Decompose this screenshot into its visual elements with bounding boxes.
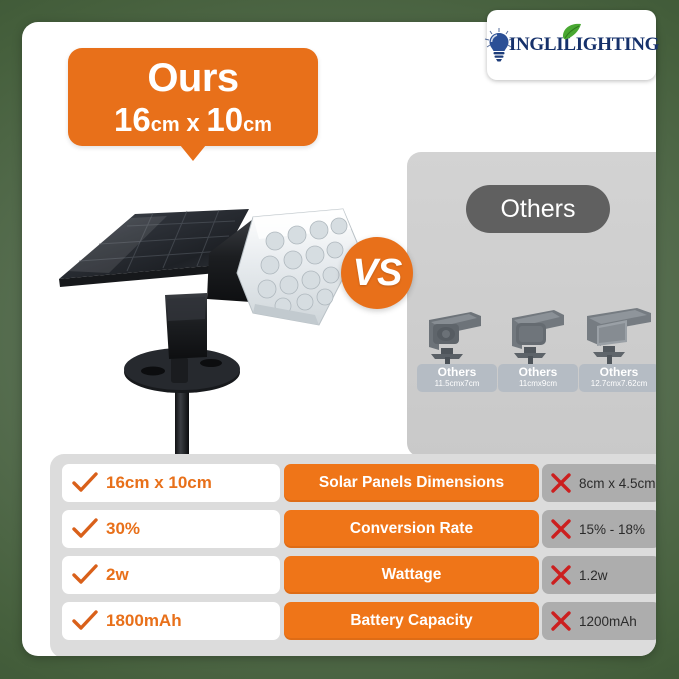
vs-badge: VS: [341, 237, 413, 309]
ours-dimensions: 16cm x 10cm: [114, 103, 272, 136]
others-value: 1.2w: [579, 568, 608, 583]
brand-logo: INGLILIGHTING: [487, 10, 656, 80]
ours-banner: Ours 16cm x 10cm: [68, 48, 318, 146]
feature-label: Battery Capacity: [284, 602, 539, 640]
others-products-row: Others 11.5cmx7cm Othe: [407, 302, 656, 402]
cross-icon: [550, 610, 572, 632]
ours-cell: 2w: [62, 556, 280, 594]
ours-product-image: [57, 207, 367, 457]
other-label-1: Others 11.5cmx7cm: [417, 364, 497, 392]
other-product-1: Others 11.5cmx7cm: [419, 302, 495, 402]
ours-cell: 30%: [62, 510, 280, 548]
others-value: 1200mAh: [579, 614, 637, 629]
vs-label: VS: [353, 252, 402, 295]
infographic-canvas: Others Others 11.5cmx: [0, 0, 679, 679]
ours-value: 16cm x 10cm: [106, 473, 212, 493]
check-icon: [72, 610, 98, 632]
ours-value: 30%: [106, 519, 140, 539]
check-icon: [72, 518, 98, 540]
others-cell: 8cm x 4.5cm: [542, 464, 656, 502]
others-panel: Others Others 11.5cmx: [407, 152, 656, 457]
other-product-2: Others 11cmx9cm: [500, 302, 576, 402]
other-label-2: Others 11cmx9cm: [498, 364, 578, 392]
ours-value: 1800mAh: [106, 611, 182, 631]
others-cell: 15% - 18%: [542, 510, 656, 548]
ours-value: 2w: [106, 565, 129, 585]
others-value: 15% - 18%: [579, 522, 645, 537]
ours-cell: 16cm x 10cm: [62, 464, 280, 502]
ours-title: Ours: [147, 58, 238, 98]
other-label-3: Others 12.7cmx7.62cm: [579, 364, 656, 392]
others-cell: 1200mAh: [542, 602, 656, 640]
ours-dim-value-1: 16: [114, 101, 151, 138]
lightbulb-icon: [484, 28, 514, 62]
competitor-light-icon: [419, 302, 495, 364]
ours-dim-value-2: 10: [206, 101, 243, 138]
leaf-icon: [562, 23, 582, 41]
check-icon: [72, 472, 98, 494]
ours-dim-separator: x: [180, 110, 207, 137]
brand-name: INGLILIGHTING: [509, 34, 659, 56]
others-heading: Others: [466, 185, 610, 233]
other-product-3: Others 12.7cmx7.62cm: [581, 302, 656, 402]
table-row: 16cm x 10cm Solar Panels Dimensions 8cm …: [62, 464, 656, 502]
table-row: 1800mAh Battery Capacity 1200mAh: [62, 602, 656, 640]
check-icon: [72, 564, 98, 586]
cross-icon: [550, 472, 572, 494]
ours-dim-unit-1: cm: [151, 114, 180, 136]
ours-dim-unit-2: cm: [243, 114, 272, 136]
ours-cell: 1800mAh: [62, 602, 280, 640]
cross-icon: [550, 564, 572, 586]
feature-label: Solar Panels Dimensions: [284, 464, 539, 502]
others-cell: 1.2w: [542, 556, 656, 594]
table-row: 30% Conversion Rate 15% - 18%: [62, 510, 656, 548]
cross-icon: [550, 518, 572, 540]
others-value: 8cm x 4.5cm: [579, 476, 656, 491]
comparison-table: 16cm x 10cm Solar Panels Dimensions 8cm …: [50, 454, 656, 656]
competitor-light-icon: [500, 302, 576, 364]
feature-label: Conversion Rate: [284, 510, 539, 548]
competitor-light-icon: [581, 302, 656, 364]
feature-label: Wattage: [284, 556, 539, 594]
table-row: 2w Wattage 1.2w: [62, 556, 656, 594]
